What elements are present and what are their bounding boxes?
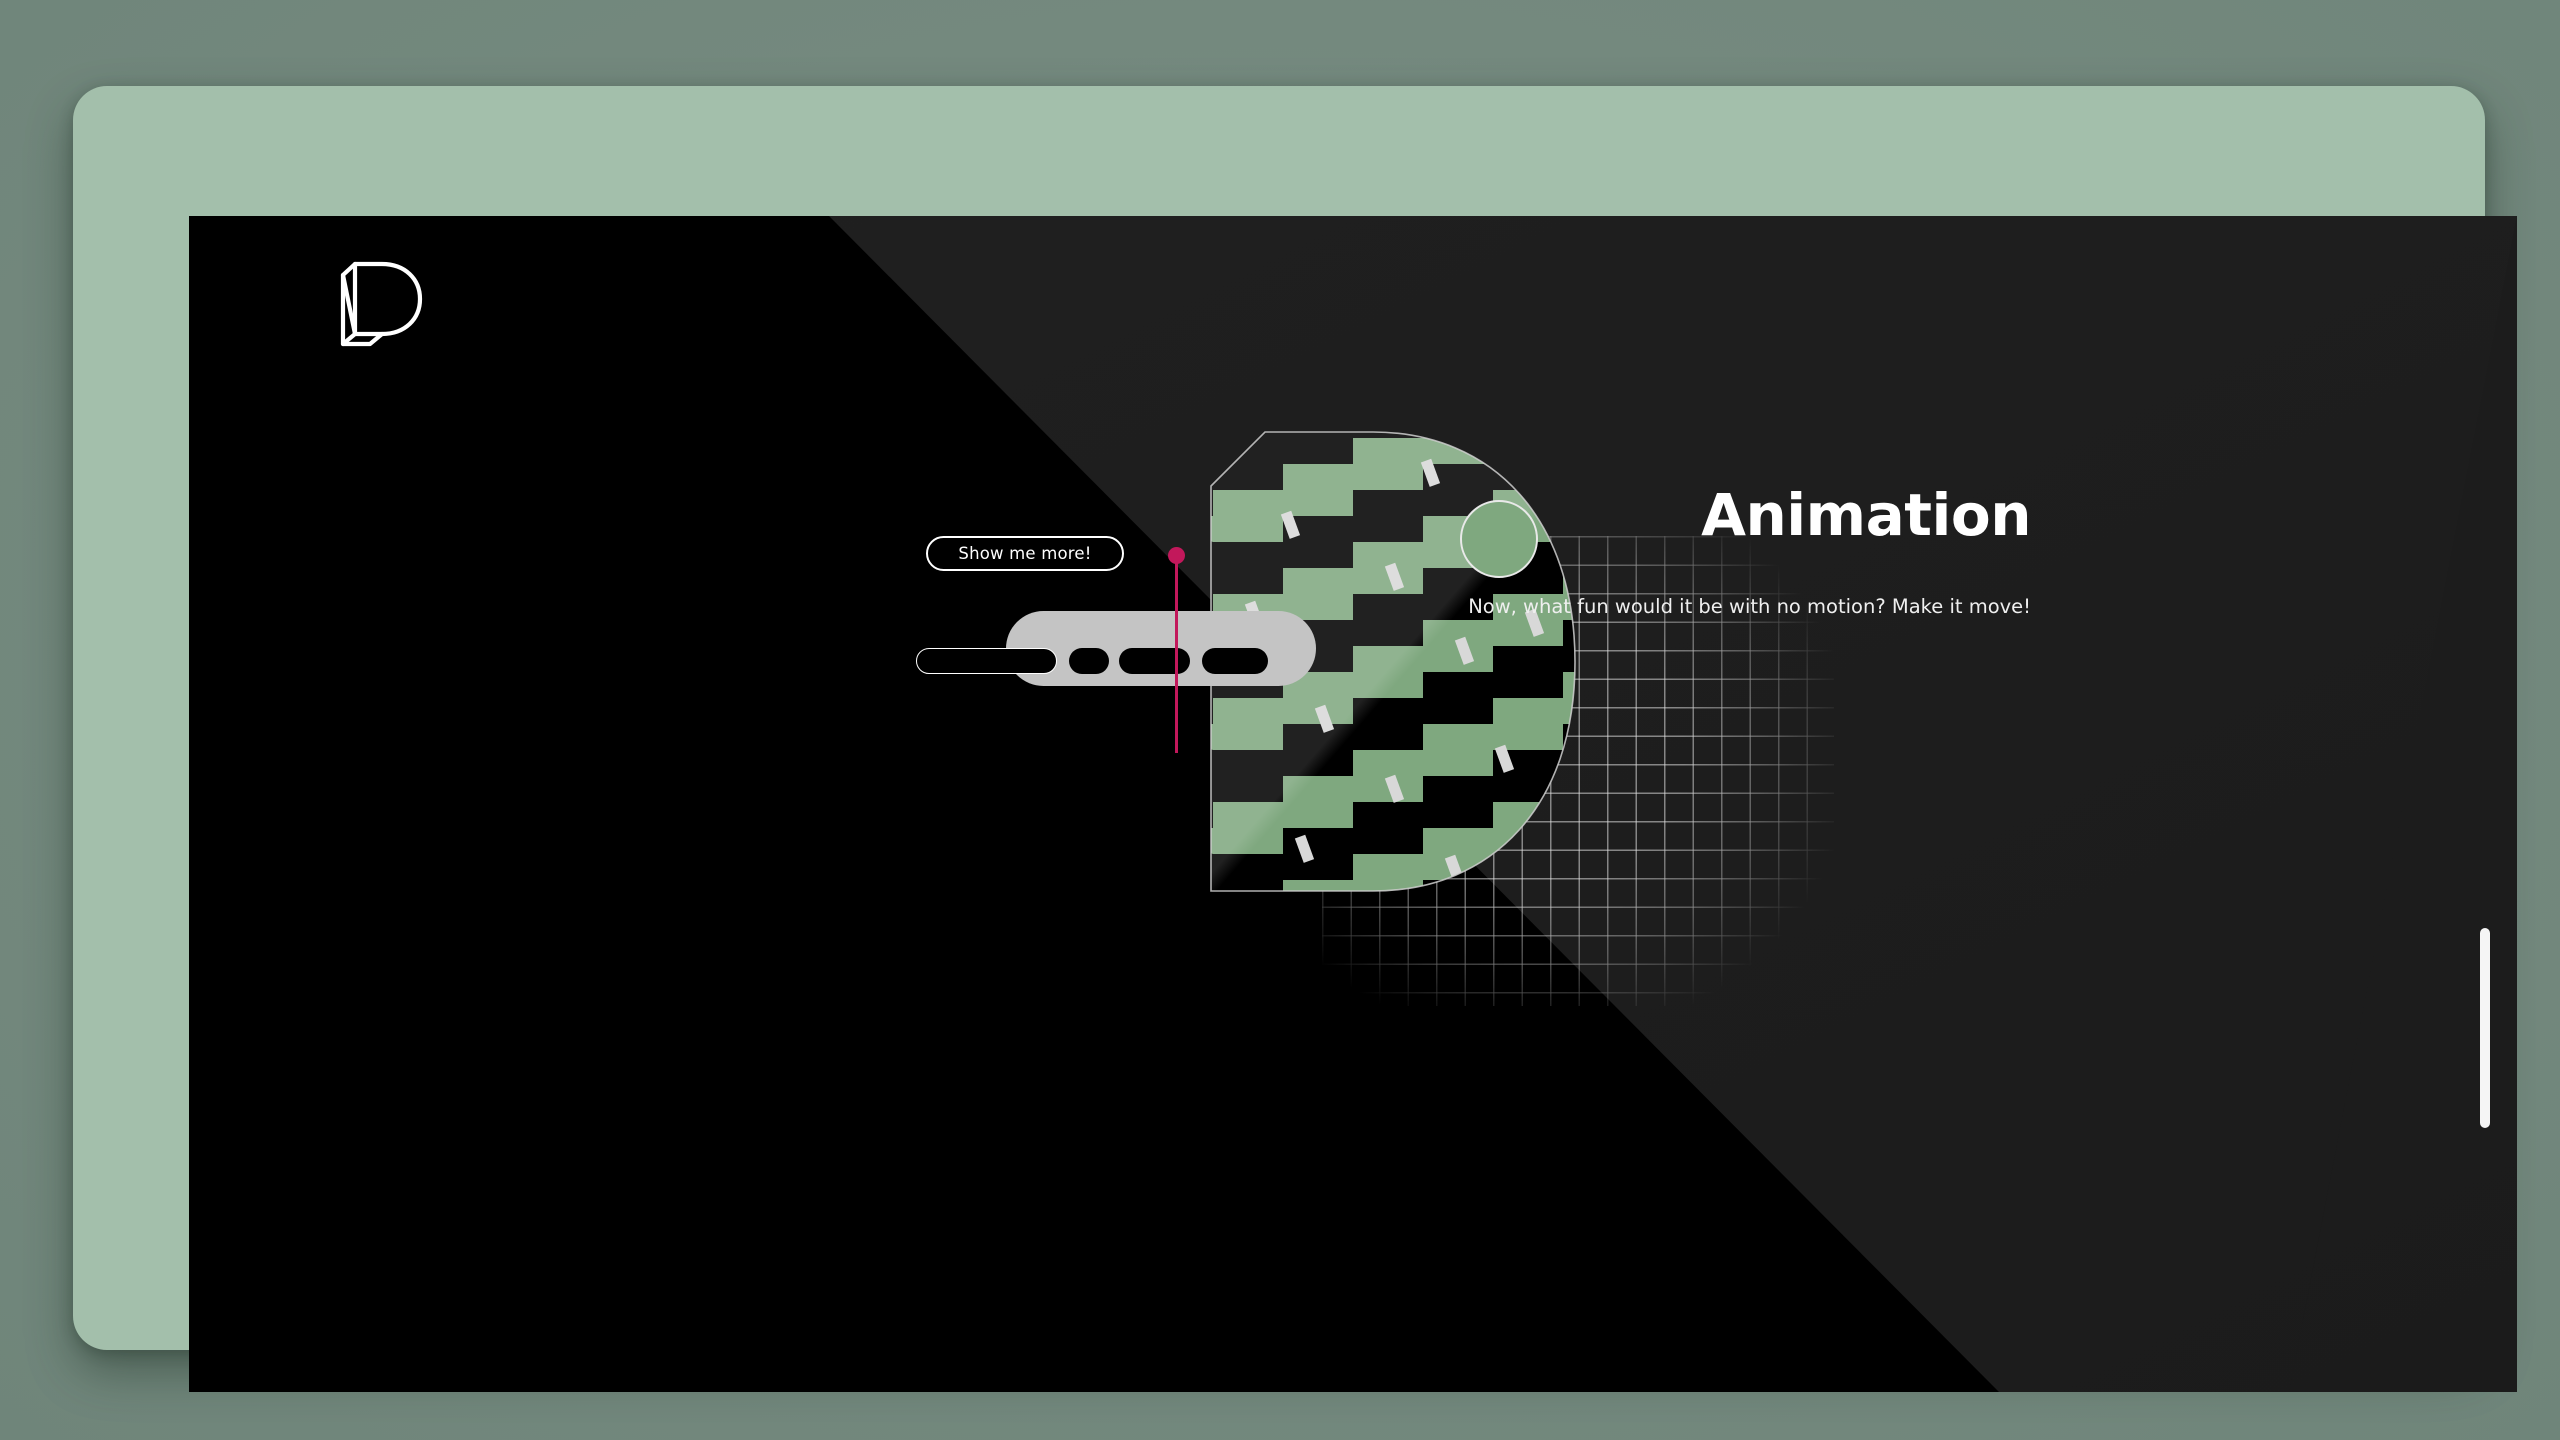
page-subtitle: Now, what fun would it be with no motion… — [1349, 594, 2099, 620]
page-title: Animation — [1349, 486, 2099, 544]
page-root: Show me more! Animation Now, what fun wo… — [0, 0, 2560, 1440]
timeline-clip-2[interactable] — [1069, 648, 1109, 674]
hero-text-block: Animation Now, what fun would it be with… — [1349, 486, 2099, 620]
scrollbar-thumb[interactable] — [2480, 928, 2490, 1128]
show-me-more-button[interactable]: Show me more! — [926, 536, 1124, 571]
timeline-clip-3[interactable] — [1119, 648, 1190, 674]
hero-graphic — [189, 216, 2517, 1392]
timeline-clip-4[interactable] — [1202, 648, 1268, 674]
playhead-line[interactable] — [1175, 553, 1178, 753]
timeline-clip-1[interactable] — [916, 648, 1057, 674]
playhead-handle[interactable] — [1168, 547, 1185, 564]
scrollbar-track[interactable] — [2490, 216, 2504, 1392]
device-frame: Show me more! Animation Now, what fun wo… — [73, 86, 2485, 1350]
timeline-bars — [189, 216, 2517, 1392]
device-screen: Show me more! Animation Now, what fun wo… — [189, 216, 2517, 1392]
